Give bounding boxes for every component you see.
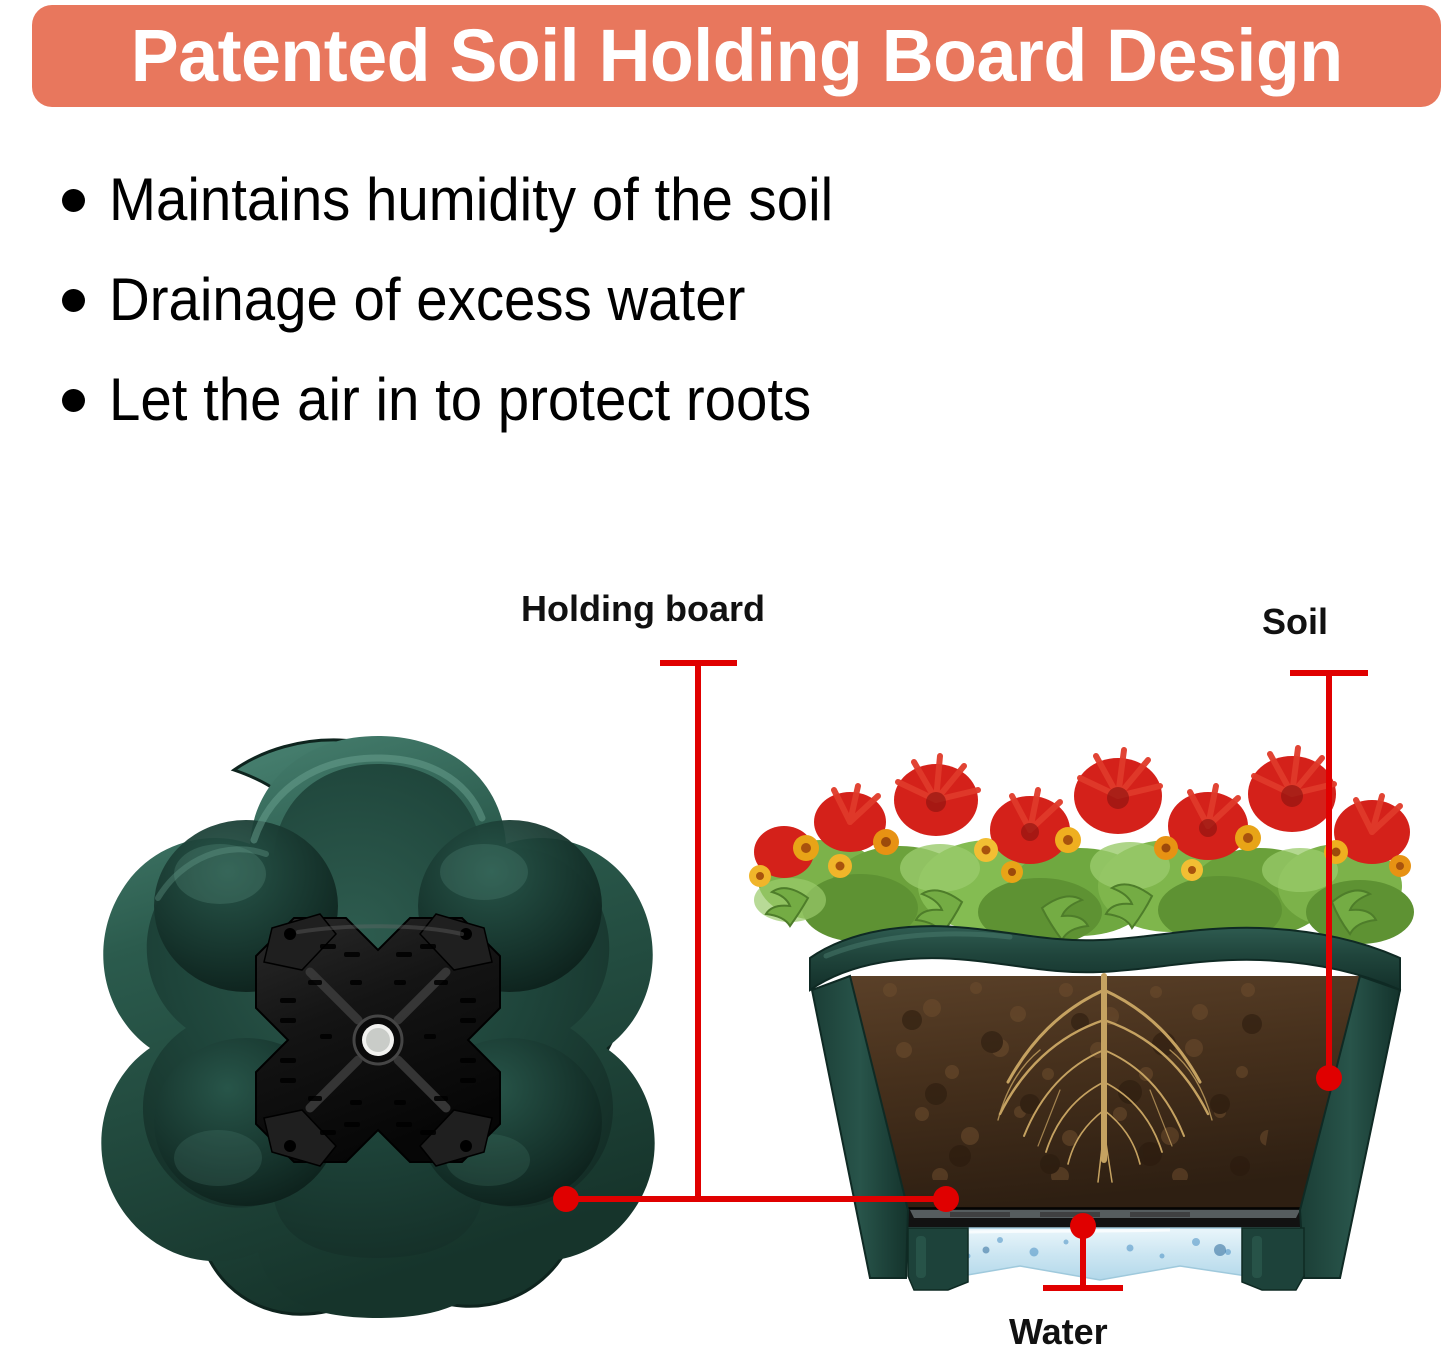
callout-label-soil: Soil [1262, 604, 1328, 640]
feature-text: Let the air in to protect roots [109, 370, 811, 430]
list-item: Let the air in to protect roots [62, 350, 1162, 450]
feature-list: Maintains humidity of the soil Drainage … [62, 150, 1162, 450]
holding-board-plate [896, 1208, 1314, 1228]
header-banner: Patented Soil Holding Board Design [32, 5, 1441, 107]
clover-planter-illustration [58, 718, 698, 1318]
soil-holding-board-insert [256, 914, 500, 1166]
pot-cutaway-illustration [700, 690, 1445, 1300]
page-title: Patented Soil Holding Board Design [131, 19, 1343, 93]
bullet-dot-icon [62, 189, 85, 212]
list-item: Maintains humidity of the soil [62, 150, 1162, 250]
bullet-dot-icon [62, 389, 85, 412]
holding-board-product-photo [58, 718, 698, 1318]
planter-cross-section-photo [700, 690, 1445, 1300]
feature-text: Drainage of excess water [109, 270, 745, 330]
infographic-page: Patented Soil Holding Board Design Maint… [0, 0, 1448, 1361]
callout-label-water: Water [1009, 1314, 1108, 1350]
foliage [754, 840, 1414, 946]
list-item: Drainage of excess water [62, 250, 1162, 350]
gloss-highlight [174, 1130, 262, 1186]
feature-text: Maintains humidity of the soil [109, 170, 833, 230]
callout-label-holding-board: Holding board [521, 591, 765, 627]
bullet-dot-icon [62, 289, 85, 312]
gloss-highlight [440, 844, 528, 900]
chrysanthemum-plants [749, 748, 1414, 946]
